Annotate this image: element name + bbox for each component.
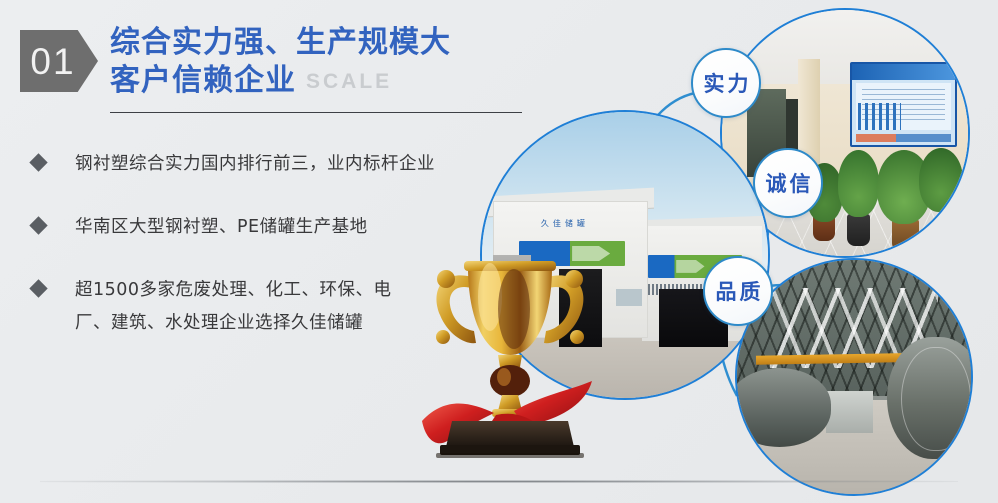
potted-plant [919,148,963,212]
badge-integrity-label: 诚信 [763,168,814,198]
info-board-chart [858,103,901,131]
section-number-badge: 01 [20,30,98,92]
info-board-footer [856,134,951,142]
bullet-text-line: 华南区大型钢衬塑、PE储罐生产基地 [75,211,368,244]
info-board-header [852,64,955,80]
bullet-text-line: 厂、建筑、水处理企业选择久佳储罐 [75,307,392,340]
bottom-divider [40,480,958,483]
trophy-award [410,235,610,460]
badge-quality-label: 品质 [713,276,764,306]
bullet-text: 超1500多家危废处理、化工、环保、电 厂、建筑、水处理企业选择久佳储罐 [75,274,392,340]
plant-pot [847,214,869,246]
section-number-text: 01 [30,43,87,80]
workshop-far-wall [826,391,873,433]
factory-window [616,289,642,306]
promo-banner: 01 综合实力强、生产规模大 客户信赖企业SCALE 钢衬塑综合实力国内排行前三… [0,0,998,503]
storage-tank-right [887,337,973,459]
headline-line-2: 客户信赖企业 [110,63,296,98]
potted-plant [838,150,880,216]
storage-tank-left [735,368,831,448]
badge-integrity[interactable]: 诚信 [753,148,823,218]
bullet-text: 钢衬塑综合实力国内排行前三，业内标杆企业 [75,148,435,181]
badge-strength[interactable]: 实力 [691,48,761,118]
badge-strength-label: 实力 [701,68,752,98]
lobby-info-board [850,62,957,147]
factory-roof-sign: 久佳储罐 [531,218,600,235]
badge-quality[interactable]: 品质 [703,256,773,326]
photo-cluster: 久佳储罐 实力 诚信 品质 [455,0,998,503]
bullet-text-line: 超1500多家危废处理、化工、环保、电 [75,274,392,307]
headline-subtitle-en: SCALE [306,63,392,101]
diamond-bullet-icon [29,216,47,234]
diamond-bullet-icon [29,279,47,297]
bullet-text: 华南区大型钢衬塑、PE储罐生产基地 [75,211,368,244]
diamond-bullet-icon [29,153,47,171]
bullet-text-line: 钢衬塑综合实力国内排行前三，业内标杆企业 [75,148,435,181]
list-item: 钢衬塑综合实力国内排行前三，业内标杆企业 [22,148,512,181]
